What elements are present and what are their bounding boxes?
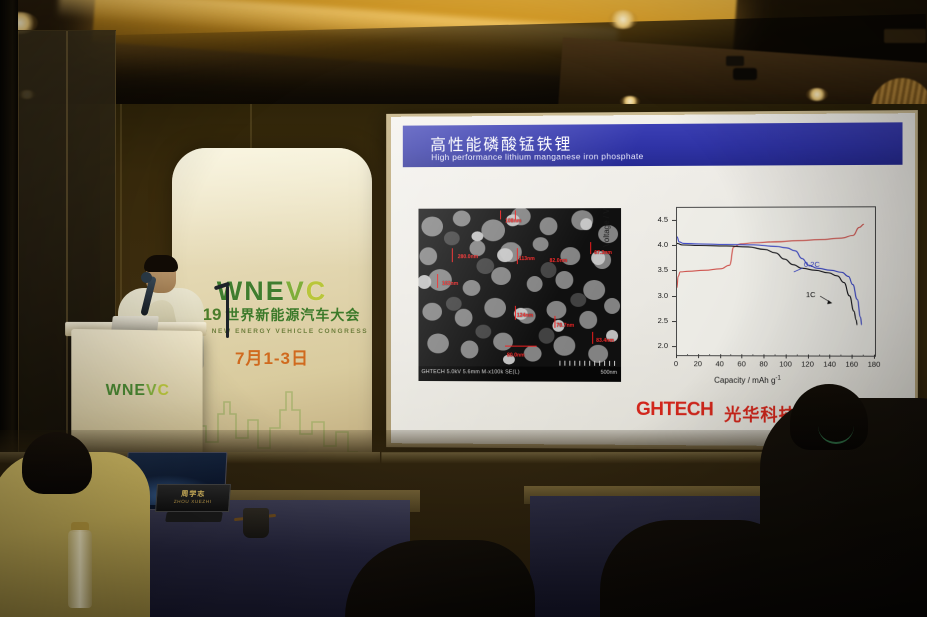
chart-x-tick-label: 80 (754, 359, 772, 368)
chart-x-tick-mark (830, 355, 831, 359)
chart-x-tick-mark (676, 354, 677, 358)
sem-annotation: 108nm (505, 218, 521, 224)
chart-x-minor-tick (797, 354, 798, 356)
annotation-line-4 (517, 248, 518, 264)
chart-x-minor-tick (709, 354, 710, 356)
chart-y-tick-mark (672, 321, 676, 322)
chart-x-tick-label: 0 (667, 359, 685, 368)
sem-annotation: 80.0nm (507, 353, 525, 359)
chart-x-minor-tick (775, 354, 776, 356)
sem-annotation: 280.0nm (458, 254, 478, 260)
slide-title-en: High performance lithium manganese iron … (431, 151, 643, 162)
chart-y-tick-label: 4.0 (646, 240, 668, 249)
annotation-line-9 (590, 242, 591, 254)
chart-y-tick-label: 2.5 (646, 316, 668, 325)
booth-title-cn: 世界新能源汽车大会 (225, 305, 360, 325)
chart-x-tick-label: 180 (865, 360, 883, 369)
chart-x-tick-label: 20 (689, 359, 707, 368)
pillar (0, 0, 18, 468)
chart-x-tick-mark (720, 354, 721, 358)
chart-x-minor-tick (753, 354, 754, 356)
chart-x-axis-label: Capacity / mAh g-1 (714, 375, 781, 385)
sem-scale-ticks (559, 361, 617, 366)
sem-annotation: 70.7nm (556, 323, 574, 329)
ghtech-logo-en: GHTECH (636, 399, 713, 421)
chart-plot-area: 0.2C 1C (676, 206, 876, 356)
chart-x-tick-mark (874, 355, 875, 359)
chart-x-tick-mark (852, 355, 853, 359)
podium-logo: WNEVC (71, 382, 202, 400)
sem-scale-label: 500nm (601, 370, 617, 376)
chart-x-tick-label: 160 (843, 360, 861, 369)
chart-x-tick-label: 140 (821, 360, 839, 369)
podium-logo-part1: WNE (106, 382, 146, 399)
sem-annotation: 67.3nm (594, 250, 612, 256)
slide-title-bar: 高性能磷酸锰铁锂 High performance lithium mangan… (403, 122, 903, 167)
chart-y-axis-label: Voltage / V (602, 208, 611, 247)
chart-x-minor-tick (687, 354, 688, 356)
water-bottle (68, 530, 92, 608)
cup-on-desk (243, 508, 269, 538)
chart-x-minor-tick (819, 355, 820, 357)
podium-logo-part3: C (158, 382, 170, 399)
chart-y-tick-mark (672, 296, 676, 297)
chart-x-minor-tick (731, 354, 732, 356)
sem-annotation: 113nm (519, 256, 535, 262)
sem-annotation: 82.0nm (550, 258, 568, 264)
nameplate-name-en: ZHOU XUEZHI (157, 499, 229, 504)
chart-y-tick-label: 3.5 (646, 265, 668, 274)
chart-series-1c-discharge (677, 243, 857, 325)
chart-y-tick-mark (672, 346, 676, 347)
ceiling-vent (884, 29, 926, 43)
chart-y-tick-mark (672, 245, 676, 246)
desk-nameplate: 周学志 ZHOU XUEZHI (155, 484, 231, 512)
chart-x-tick-mark (764, 354, 765, 358)
sem-micrograph: GHTECH 5.0kV 5.6mm M-x100k SE(L) 500nm 1… (418, 208, 621, 382)
chart-label-1c: 1C (806, 290, 816, 299)
annotation-line-6 (515, 306, 516, 320)
sem-annotation: 83.4nm (596, 338, 614, 344)
chart-series-charge (677, 224, 864, 287)
chart-x-tick-mark (742, 354, 743, 358)
chart-y-tick-label: 2.0 (646, 341, 668, 350)
audience-head-left (22, 432, 92, 494)
chart-x-tick-mark (808, 354, 809, 358)
chart-x-minor-tick (841, 355, 842, 357)
chart-x-tick-label: 40 (711, 359, 729, 368)
annotation-line-1 (500, 210, 501, 219)
phone-on-desk (165, 512, 223, 522)
chart-x-ticks: 020406080100120140160180 (636, 202, 893, 203)
mic-stand (226, 286, 229, 338)
annotation-line-10 (592, 332, 593, 344)
chart-y-tick-label: 4.5 (646, 215, 668, 224)
conference-photo: WNEVC 2019 世界新能源汽车大会 WORLD NEW ENERGY VE… (0, 0, 927, 617)
annotation-line-7 (554, 316, 555, 328)
chart-x-minor-tick (863, 355, 864, 357)
booth-logo-part3: C (306, 276, 328, 306)
downlight-3 (806, 88, 828, 101)
chart-x-tick-label: 60 (733, 359, 751, 368)
microphone-head (141, 272, 152, 283)
sem-info-bar: GHTECH 5.0kV 5.6mm M-x100k SE(L) 500nm (418, 366, 621, 382)
booth-logo-part2: V (286, 276, 306, 306)
chart-curves (677, 207, 875, 355)
nameplate-name-cn: 周学志 (157, 489, 230, 499)
sem-annotation: 102nm (442, 281, 458, 287)
annotation-line-3 (452, 248, 453, 262)
chart-y-tick-mark (672, 270, 676, 271)
chart-y-tick-mark (672, 220, 676, 221)
podium-logo-part2: V (146, 382, 158, 399)
speaker-hair (144, 255, 178, 272)
chart-label-02c: 0.2C (804, 260, 820, 269)
ceiling-speaker (726, 56, 744, 66)
annotation-line-8 (505, 346, 537, 347)
chart-y-tick-label: 3.0 (646, 291, 668, 300)
ceiling (0, 0, 927, 112)
door-mullion (66, 31, 68, 461)
downlight-2 (608, 10, 638, 29)
chart-x-tick-mark (786, 354, 787, 358)
chart-series-0-2c-discharge (677, 237, 862, 325)
projector (733, 68, 757, 80)
annotation-line-5 (437, 274, 438, 288)
chart-x-tick-label: 100 (776, 359, 794, 368)
chart-x-tick-label: 120 (798, 360, 816, 369)
voltage-capacity-chart: Voltage / V Capacity / mAh g-1 0.2C 1C 2… (636, 202, 893, 394)
chart-y-ticks: 2.02.53.03.54.04.5 (636, 202, 893, 203)
chart-x-tick-mark (698, 354, 699, 358)
sem-annotation: 124nm (517, 313, 533, 319)
sem-caption: GHTECH 5.0kV 5.6mm M-x100k SE(L) (421, 369, 519, 375)
